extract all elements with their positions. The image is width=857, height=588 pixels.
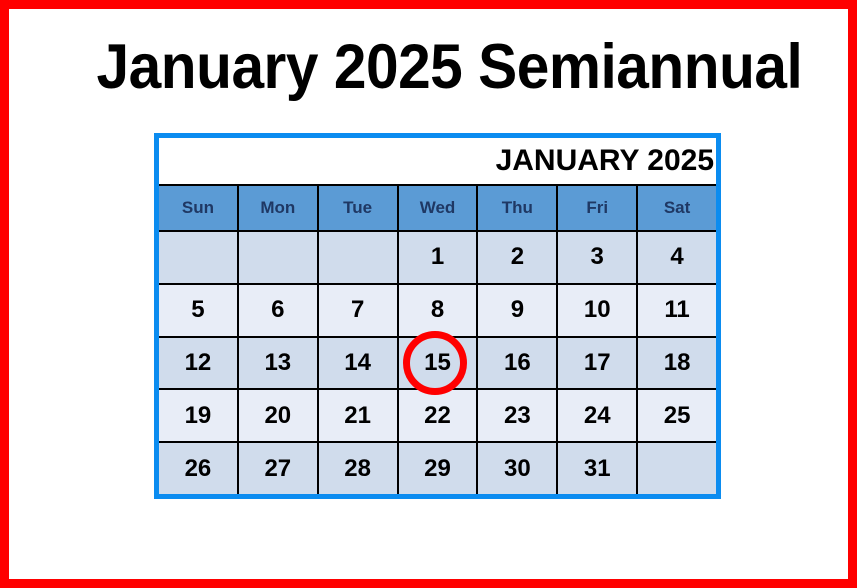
calendar-month-label: JANUARY 2025 [496,146,716,176]
calendar-inner: JANUARY 2025 Sun Mon Tue Wed Thu Fri Sat… [159,138,716,494]
day-cell[interactable]: 13 [239,338,319,389]
calendar-week-row: 12 13 14 15 16 17 18 [159,338,716,391]
weekday-header-sun: Sun [159,186,239,230]
day-cell[interactable]: 27 [239,443,319,494]
day-cell[interactable]: 26 [159,443,239,494]
weekday-header-wed: Wed [399,186,479,230]
day-cell[interactable]: 3 [558,232,638,283]
calendar-date-grid: 1 2 3 4 5 6 7 8 9 10 11 12 13 14 [159,232,716,494]
day-cell[interactable]: 16 [478,338,558,389]
day-cell[interactable]: 18 [638,338,716,389]
day-cell[interactable] [159,232,239,283]
day-cell[interactable]: 2 [478,232,558,283]
day-cell[interactable] [319,232,399,283]
day-cell[interactable]: 10 [558,285,638,336]
calendar-week-row: 19 20 21 22 23 24 25 [159,390,716,443]
day-cell[interactable] [638,443,716,494]
weekday-header-fri: Fri [558,186,638,230]
day-cell[interactable] [239,232,319,283]
day-cell[interactable]: 24 [558,390,638,441]
day-cell[interactable]: 9 [478,285,558,336]
day-cell[interactable]: 5 [159,285,239,336]
weekday-header-thu: Thu [478,186,558,230]
day-cell[interactable]: 28 [319,443,399,494]
day-cell[interactable]: 4 [638,232,716,283]
day-cell[interactable]: 12 [159,338,239,389]
weekday-header-tue: Tue [319,186,399,230]
day-cell[interactable]: 20 [239,390,319,441]
day-cell[interactable]: 25 [638,390,716,441]
day-cell[interactable]: 1 [399,232,479,283]
day-cell[interactable]: 6 [239,285,319,336]
slide-canvas: January 2025 Semiannual JANUARY 2025 Sun… [0,0,857,588]
day-cell[interactable]: 19 [159,390,239,441]
day-cell-highlighted[interactable]: 15 [399,338,479,389]
weekday-header-mon: Mon [239,186,319,230]
calendar-week-row: 1 2 3 4 [159,232,716,285]
calendar-weekday-header: Sun Mon Tue Wed Thu Fri Sat [159,186,716,232]
day-cell[interactable]: 23 [478,390,558,441]
day-cell[interactable]: 7 [319,285,399,336]
page-title: January 2025 Semiannual [97,31,776,103]
day-cell[interactable]: 17 [558,338,638,389]
calendar-week-row: 5 6 7 8 9 10 11 [159,285,716,338]
day-cell[interactable]: 30 [478,443,558,494]
calendar-widget: JANUARY 2025 Sun Mon Tue Wed Thu Fri Sat… [154,133,721,499]
day-cell[interactable]: 22 [399,390,479,441]
day-cell[interactable]: 14 [319,338,399,389]
day-cell[interactable]: 11 [638,285,716,336]
calendar-month-bar: JANUARY 2025 [159,138,716,186]
day-cell[interactable]: 29 [399,443,479,494]
day-cell[interactable]: 8 [399,285,479,336]
weekday-header-sat: Sat [638,186,716,230]
calendar-week-row: 26 27 28 29 30 31 [159,443,716,494]
day-cell[interactable]: 21 [319,390,399,441]
day-cell[interactable]: 31 [558,443,638,494]
